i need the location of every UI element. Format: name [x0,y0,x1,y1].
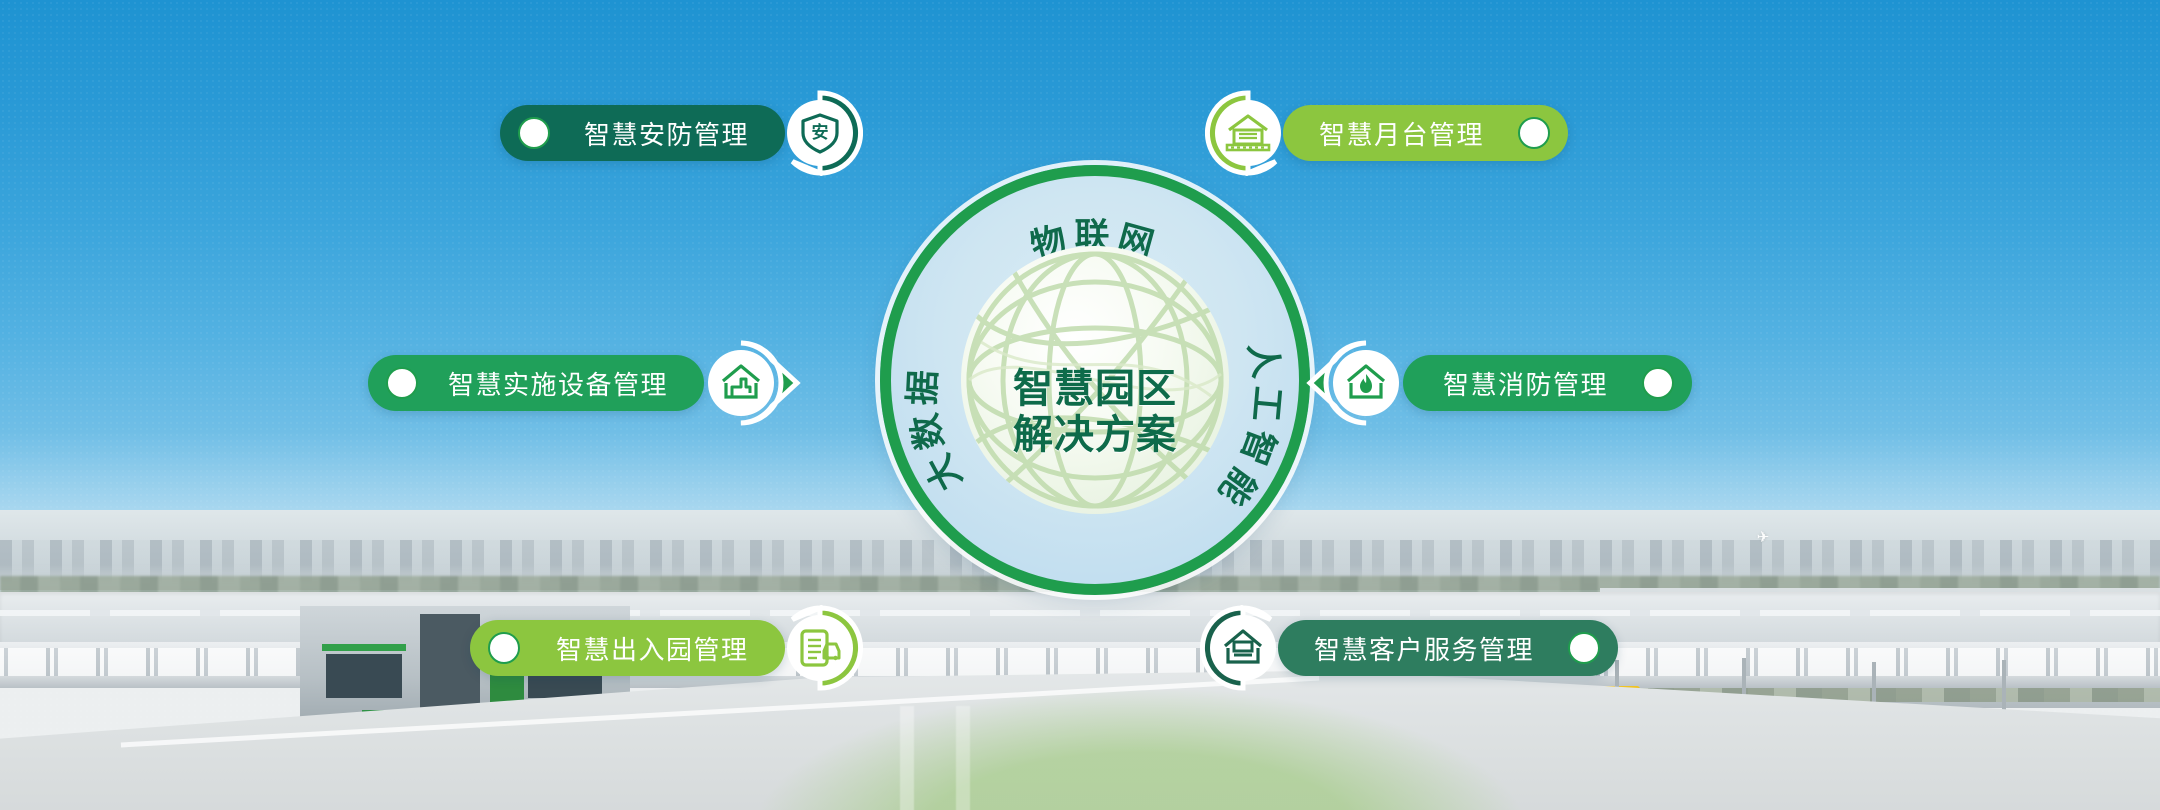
icon-disc-service [1210,615,1276,681]
bullet-dot-access [488,632,520,664]
pill-fire[interactable]: 智慧消防管理 [1403,355,1692,411]
bullet-dot-platform [1518,117,1550,149]
icon-disc-fire [1333,350,1399,416]
hub-inner-globe: 智慧园区 解决方案 [961,246,1229,514]
pill-facility[interactable]: 智慧实施设备管理 [368,355,704,411]
center-hub: 物联网 大数据 人工智能 [880,165,1310,595]
photo-ground-watermark-text [900,706,1420,810]
label-security: 智慧安防管理 [550,115,759,152]
hub-arc-left-label: 大数据 [903,363,970,497]
pill-security[interactable]: 智慧安防管理 [500,105,785,161]
bullet-dot-fire [1642,367,1674,399]
house-glyph-facility [719,363,763,403]
node-facility[interactable]: 智慧实施设备管理 [368,340,802,426]
icon-disc-access [787,615,853,681]
label-service: 智慧客户服务管理 [1304,630,1568,667]
node-access[interactable]: 智慧出入园管理 [470,605,863,691]
shield-char-security: 安 [812,122,829,142]
document-vehicle-glyph-access [797,627,843,669]
bullet-dot-facility [386,367,418,399]
pill-service[interactable]: 智慧客户服务管理 [1278,620,1618,676]
node-security[interactable]: 智慧安防管理 安 [500,90,863,176]
bullet-dot-security [518,117,550,149]
icon-disc-platform [1215,100,1281,166]
icon-disc-facility [708,350,774,416]
photo-lamp-post-4 [2002,660,2006,716]
pill-access[interactable]: 智慧出入园管理 [470,620,785,676]
label-access: 智慧出入园管理 [520,630,759,667]
infographic-stage: ✈ 物联网 大数据 人工智能 [0,0,2160,810]
document-vehicle-icon[interactable] [777,605,863,691]
facade-window-left [326,654,402,698]
warehouse-glyph-platform [1225,112,1271,154]
shield-safety-icon[interactable]: 安 [777,90,863,176]
label-facility: 智慧实施设备管理 [418,365,678,402]
node-fire[interactable]: 智慧消防管理 [1305,340,1692,426]
hub-title-line2: 解决方案 [961,412,1229,458]
facade-accent-strip [322,644,406,651]
airplane-icon: ✈ [1730,530,1796,546]
house-service-glyph-service [1221,628,1265,668]
label-fire: 智慧消防管理 [1429,365,1642,402]
warehouse-dock-icon[interactable] [1205,90,1291,176]
house-flame-glyph-fire [1344,363,1388,403]
node-service[interactable]: 智慧客户服务管理 [1200,605,1618,691]
icon-disc-security: 安 [787,100,853,166]
label-platform: 智慧月台管理 [1309,115,1518,152]
shield-glyph-security: 安 [798,111,842,155]
bullet-dot-service [1568,632,1600,664]
house-facility-icon[interactable] [698,340,802,426]
hub-title-line1: 智慧园区 [961,366,1229,412]
node-platform[interactable]: 智慧月台管理 [1205,90,1568,176]
house-service-icon[interactable] [1200,605,1286,691]
house-flame-icon[interactable] [1305,340,1409,426]
hub-title: 智慧园区 解决方案 [961,366,1229,459]
pill-platform[interactable]: 智慧月台管理 [1283,105,1568,161]
